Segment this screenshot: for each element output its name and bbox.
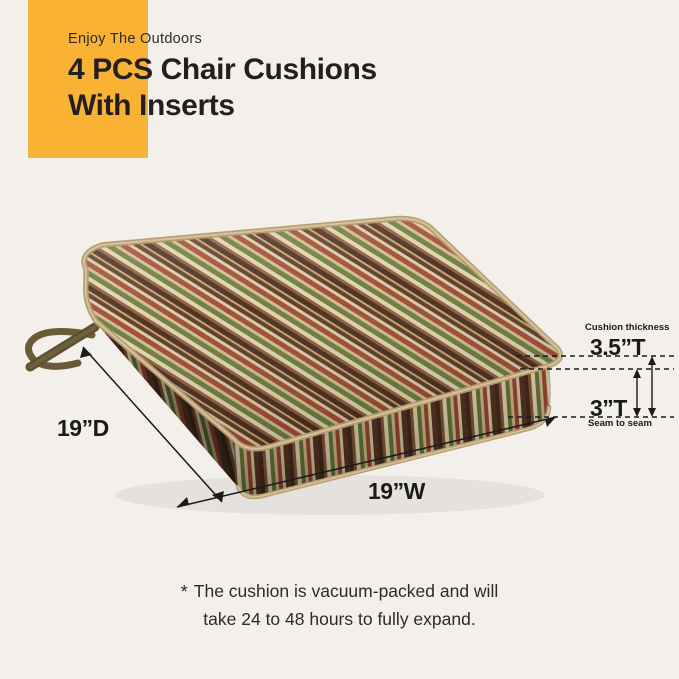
cushion-thickness-caption: Cushion thickness <box>585 322 669 333</box>
seam-to-seam-caption: Seam to seam <box>588 418 652 429</box>
total-thickness-label: 3.5”T <box>590 334 645 361</box>
eyebrow-text: Enjoy The Outdoors <box>68 30 588 48</box>
asterisk-icon: * <box>181 582 188 602</box>
tie-strap-loop <box>28 327 95 367</box>
depth-dimension-label: 19”D <box>57 415 109 442</box>
thickness-total-arrow <box>648 356 656 417</box>
footnote: *The cushion is vacuum-packed and will t… <box>0 578 679 633</box>
header-text-group: Enjoy The Outdoors 4 PCS Chair Cushions … <box>68 30 588 124</box>
headline-line-1: 4 PCS Chair Cushions <box>68 52 588 88</box>
infographic-page: Enjoy The Outdoors 4 PCS Chair Cushions … <box>0 0 679 679</box>
footnote-line-1: The cushion is vacuum-packed and will <box>194 581 498 601</box>
thickness-seam-arrow <box>633 369 641 417</box>
headline-line-2: With Inserts <box>68 88 588 124</box>
footnote-line-2: take 24 to 48 hours to fully expand. <box>0 606 679 633</box>
width-dimension-label: 19”W <box>368 478 425 505</box>
cushion-illustration <box>0 195 679 535</box>
